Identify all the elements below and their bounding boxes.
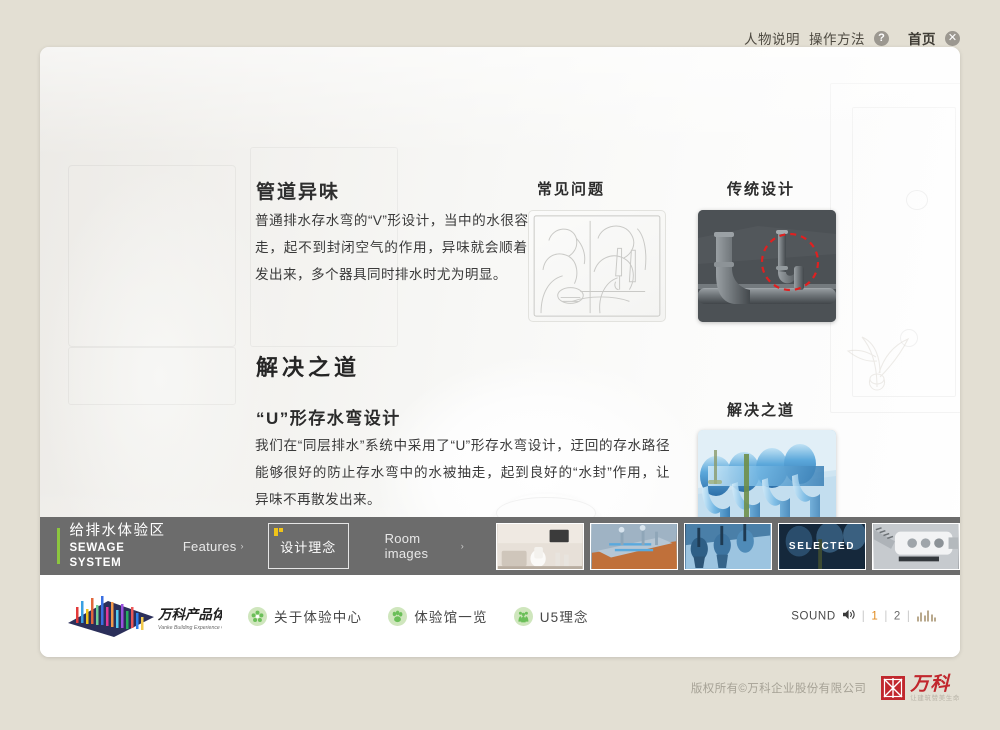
people-icon bbox=[514, 607, 533, 626]
thumbnail-pipe-layout-diagram[interactable] bbox=[590, 523, 678, 570]
nav-home[interactable]: 首页 bbox=[908, 28, 936, 48]
separator: | bbox=[907, 610, 911, 622]
thumbnail-strip: SELECTED bbox=[496, 523, 960, 570]
selected-overlay: SELECTED bbox=[779, 524, 865, 569]
logo-cn-text: 万科产品体验馆 bbox=[157, 607, 222, 622]
vanke-brand-slogan: 让建筑赞美生命 bbox=[910, 696, 960, 703]
figure-common-problem-illustration[interactable] bbox=[528, 210, 666, 322]
nav-character-guide[interactable]: 人物说明 bbox=[744, 28, 800, 48]
nav-features-label: Features bbox=[183, 539, 237, 554]
footer-link-u5-concept[interactable]: U5理念 bbox=[514, 606, 589, 626]
design-concept-button[interactable]: 设计理念 bbox=[268, 523, 349, 569]
bg-panel bbox=[852, 107, 956, 397]
design-concept-label: 设计理念 bbox=[280, 537, 336, 556]
experience-center-logo[interactable]: 万科产品体验馆 Vanke Building Experience Center bbox=[62, 593, 222, 639]
selected-label: SELECTED bbox=[789, 541, 855, 552]
footer-link-label: 体验馆一览 bbox=[414, 606, 488, 626]
chevron-right-icon: › bbox=[461, 541, 464, 551]
solution-heading: 解决之道 bbox=[256, 350, 360, 382]
sound-track-2[interactable]: 2 bbox=[894, 610, 901, 622]
paw-icon bbox=[388, 607, 407, 626]
zone-title: 给排水体验区 SEWAGE SYSTEM bbox=[57, 522, 166, 571]
figure-label-traditional-design: 传统设计 bbox=[727, 178, 795, 199]
figure-label-common-problem: 常见问题 bbox=[537, 178, 605, 199]
topic-heading: 管道异味 bbox=[256, 177, 340, 204]
thumbnail-blue-pipe-assembly[interactable] bbox=[684, 523, 772, 570]
sound-controls: SOUND | 1 | 2 | bbox=[791, 609, 936, 624]
card-footer: 万科产品体验馆 Vanke Building Experience Center… bbox=[40, 575, 960, 657]
separator: | bbox=[884, 610, 888, 622]
main-card: 管道异味 普通排水存水弯的“V”形设计，当中的水很容易就被抽走，起不到封闭空气的… bbox=[40, 47, 960, 657]
nav-operation-method[interactable]: 操作方法 bbox=[809, 28, 865, 48]
bg-cabinet bbox=[68, 165, 236, 347]
sound-track-1[interactable]: 1 bbox=[871, 610, 878, 622]
zone-title-cn: 给排水体验区 bbox=[69, 522, 165, 541]
vanke-mark-icon bbox=[880, 675, 906, 701]
equalizer-icon bbox=[917, 611, 937, 622]
nav-room-images[interactable]: Room images › bbox=[385, 531, 464, 561]
sound-label: SOUND bbox=[791, 610, 836, 622]
flower-decoration-icon bbox=[832, 307, 922, 393]
copyright-text: 版权所有©万科企业股份有限公司 bbox=[691, 680, 866, 696]
footer-links: 关于体验中心 体验馆一览 U5理念 bbox=[248, 606, 589, 626]
logo-en-text: Vanke Building Experience Center bbox=[158, 625, 222, 631]
logo-artwork: 万科产品体验馆 Vanke Building Experience Center bbox=[62, 593, 222, 639]
help-icon[interactable]: ? bbox=[874, 31, 889, 46]
thumbnail-bathroom-interior[interactable] bbox=[496, 523, 584, 570]
footer-link-label: 关于体验中心 bbox=[274, 606, 362, 626]
zone-accent-bar bbox=[57, 528, 60, 564]
footer-link-label: U5理念 bbox=[540, 606, 589, 626]
top-navigation: 人物说明 操作方法 ? 首页 ✕ bbox=[744, 28, 960, 48]
vanke-brand-logo: 万科 让建筑赞美生命 bbox=[880, 675, 960, 703]
concept-marker-icon bbox=[274, 528, 285, 536]
utrap-heading: “U”形存水弯设计 bbox=[256, 404, 401, 429]
footer-link-about-center[interactable]: 关于体验中心 bbox=[248, 606, 362, 626]
bg-circle-b bbox=[900, 329, 918, 347]
chevron-right-icon: › bbox=[241, 541, 244, 551]
nav-room-images-label: Room images bbox=[385, 531, 457, 561]
copyright-bar: 版权所有©万科企业股份有限公司 万科 让建筑赞美生命 bbox=[0, 675, 1000, 703]
vanke-brand-cn: 万科 bbox=[910, 675, 960, 694]
separator: | bbox=[862, 610, 866, 622]
utrap-paragraph: 我们在“同层排水”系统中采用了“U”形存水弯设计，迂回的存水路径能够很好的防止存… bbox=[255, 432, 670, 513]
bg-circle-a bbox=[906, 190, 928, 210]
nav-features[interactable]: Features › bbox=[183, 539, 244, 554]
figure-label-solution: 解决之道 bbox=[727, 399, 795, 420]
bg-door bbox=[830, 83, 960, 413]
flower-icon bbox=[248, 607, 267, 626]
thumbnail-u-trap-closeup[interactable]: SELECTED bbox=[778, 523, 866, 570]
section-navigation-bar: 给排水体验区 SEWAGE SYSTEM Features › 设计理念 Roo… bbox=[40, 517, 960, 575]
zone-title-en: SEWAGE SYSTEM bbox=[69, 541, 165, 571]
app-root: 人物说明 操作方法 ? 首页 ✕ bbox=[0, 0, 1000, 730]
thumbnail-valve-manifold[interactable] bbox=[872, 523, 960, 570]
close-icon[interactable]: ✕ bbox=[945, 31, 960, 46]
bg-cabinet-drawer bbox=[68, 347, 236, 405]
speaker-icon[interactable] bbox=[842, 609, 856, 624]
footer-link-center-list[interactable]: 体验馆一览 bbox=[388, 606, 488, 626]
figure-traditional-pipe-photo[interactable] bbox=[698, 210, 836, 322]
